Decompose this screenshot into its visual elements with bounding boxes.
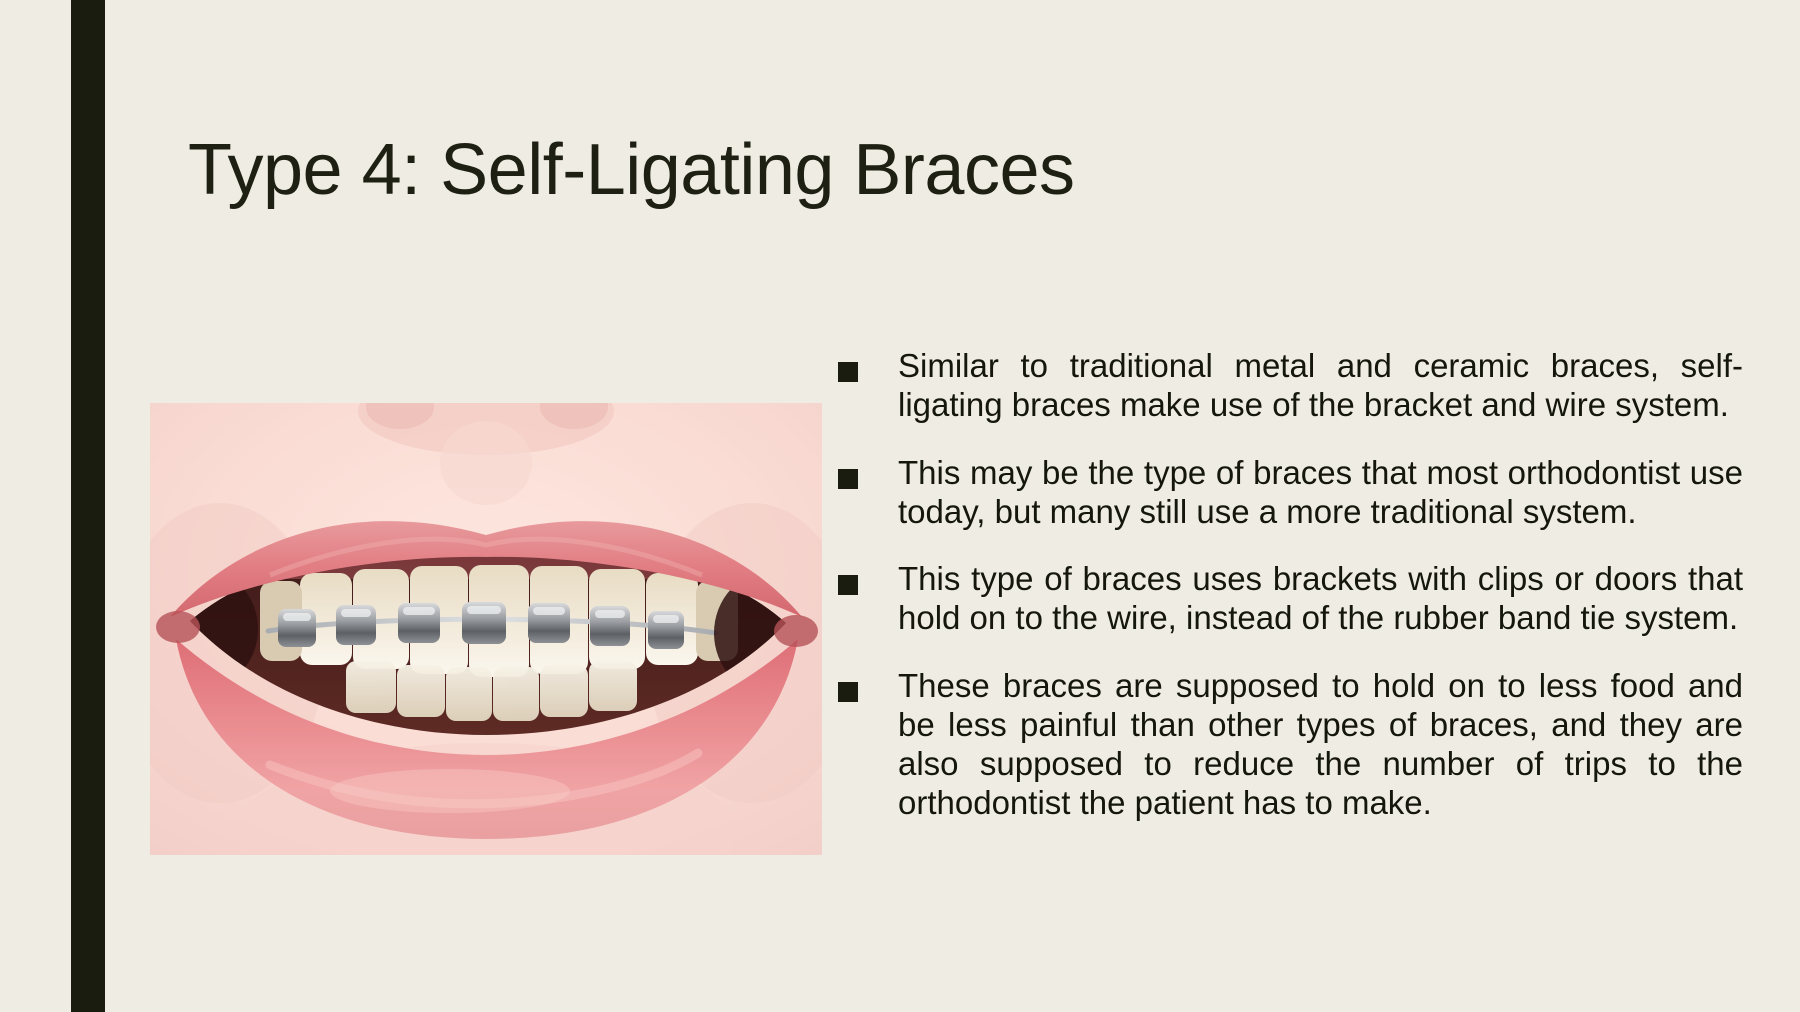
- smile-with-braces-illustration: [150, 403, 822, 855]
- list-item-text: This may be the type of braces that most…: [898, 453, 1743, 532]
- square-bullet-icon: [838, 682, 858, 702]
- square-bullet-icon: [838, 469, 858, 489]
- presentation-slide: Type 4: Self-Ligating Braces: [0, 0, 1800, 1012]
- square-bullet-icon: [838, 362, 858, 382]
- list-item-text: This type of braces uses brackets with c…: [898, 559, 1743, 638]
- list-item-text: These braces are supposed to hold on to …: [898, 666, 1743, 823]
- list-item: This may be the type of braces that most…: [838, 453, 1743, 532]
- list-item: Similar to traditional metal and ceramic…: [838, 346, 1743, 425]
- list-item: This type of braces uses brackets with c…: [838, 559, 1743, 638]
- braces-photo: [150, 403, 822, 855]
- left-accent-bar: [71, 0, 105, 1012]
- bullet-list: Similar to traditional metal and ceramic…: [838, 346, 1743, 823]
- square-bullet-icon: [838, 575, 858, 595]
- list-item-text: Similar to traditional metal and ceramic…: [898, 346, 1743, 425]
- list-item: These braces are supposed to hold on to …: [838, 666, 1743, 823]
- page-title: Type 4: Self-Ligating Braces: [188, 132, 1688, 210]
